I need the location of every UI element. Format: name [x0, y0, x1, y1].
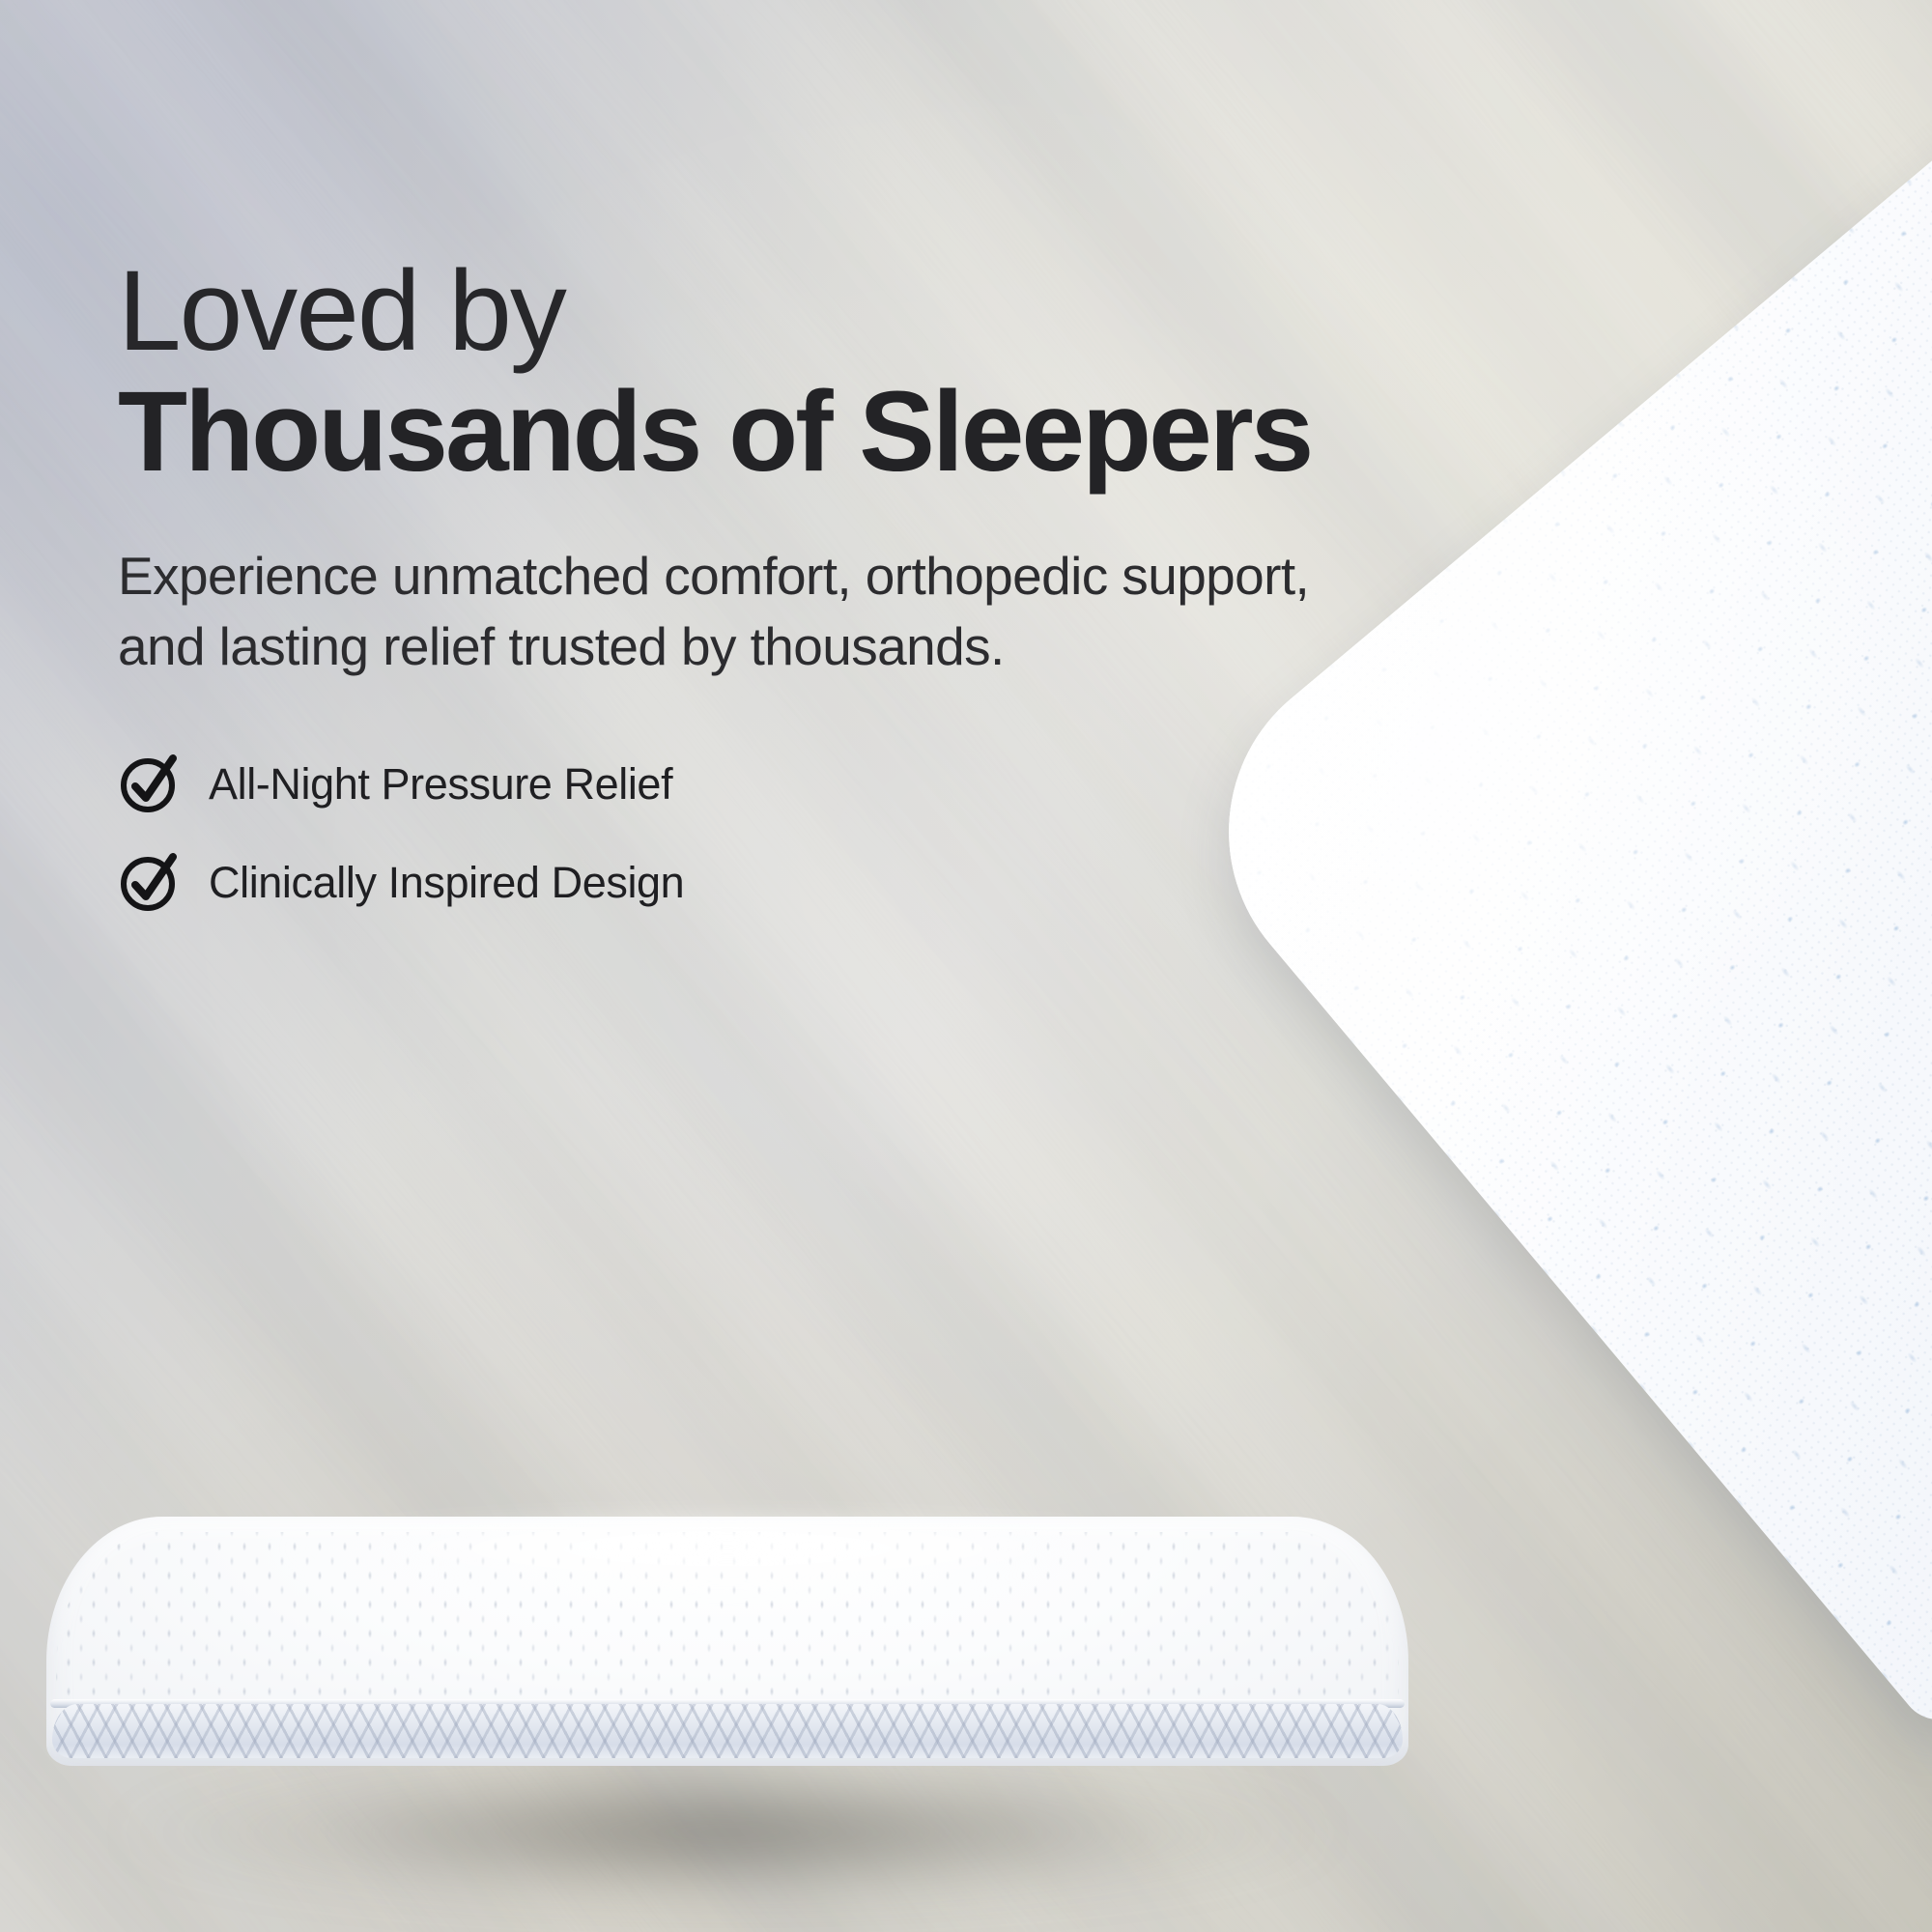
feature-list: All-Night Pressure Relief Clinically Ins… [118, 753, 1490, 913]
pillow-body [46, 1517, 1408, 1766]
check-circle-icon [118, 753, 180, 814]
subheading-copy: Experience unmatched comfort, orthopedic… [118, 541, 1316, 681]
pillow-drop-shadow [104, 1760, 1350, 1905]
feature-label: All-Night Pressure Relief [209, 762, 672, 806]
pillow-product-image [46, 1517, 1408, 1806]
headline-line-2: Thousands of Sleepers [118, 372, 1490, 493]
pillow-gusset-band [52, 1704, 1403, 1758]
promo-banner: Loved by Thousands of Sleepers Experienc… [0, 0, 1932, 1932]
feature-item: All-Night Pressure Relief [118, 753, 1490, 814]
promo-text-block: Loved by Thousands of Sleepers Experienc… [118, 251, 1490, 913]
pillow-top-highlight [100, 1520, 1353, 1613]
feature-label: Clinically Inspired Design [209, 861, 684, 904]
check-circle-icon [118, 851, 180, 913]
headline-line-1: Loved by [118, 251, 1490, 372]
feature-item: Clinically Inspired Design [118, 851, 1490, 913]
